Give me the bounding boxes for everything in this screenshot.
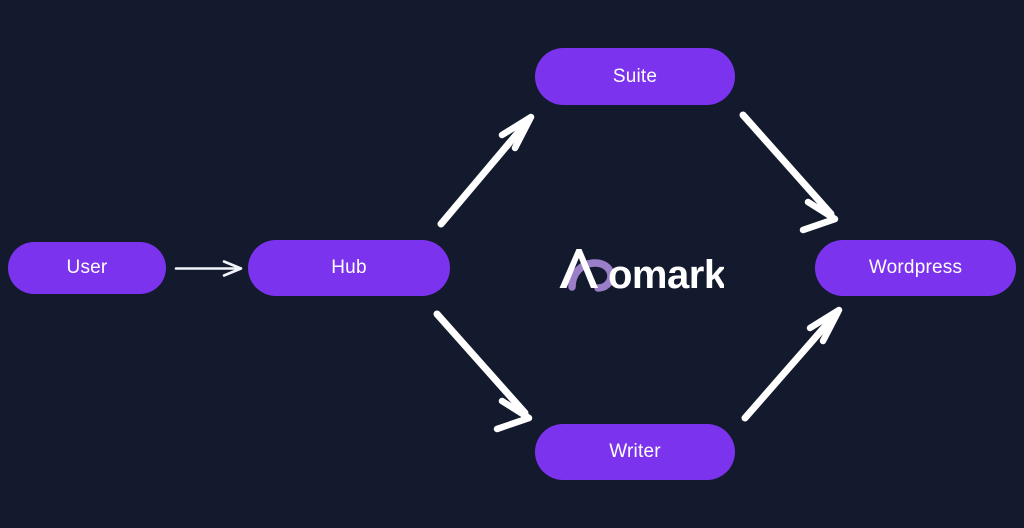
aomark-logo: omark	[556, 240, 724, 296]
edge-user-to-hub	[176, 262, 241, 276]
node-wordpress-label: Wordpress	[869, 258, 962, 277]
diagram-canvas: User Hub Suite Writer Wordpress omark	[0, 0, 1024, 528]
node-hub-label: Hub	[331, 258, 366, 277]
node-writer-label: Writer	[609, 442, 661, 461]
node-suite-label: Suite	[613, 67, 657, 86]
node-user-label: User	[67, 258, 108, 277]
node-wordpress[interactable]: Wordpress	[815, 240, 1016, 296]
node-suite[interactable]: Suite	[535, 48, 735, 105]
edge-hub-to-suite	[441, 117, 531, 224]
node-user[interactable]: User	[8, 242, 166, 294]
edge-suite-to-wordpress	[743, 115, 835, 230]
svg-text:omark: omark	[608, 253, 724, 292]
node-writer[interactable]: Writer	[535, 424, 735, 480]
aomark-logo-icon: omark	[556, 244, 724, 292]
node-hub[interactable]: Hub	[248, 240, 450, 296]
edge-hub-to-writer	[437, 314, 529, 429]
edge-writer-to-wordpress	[745, 310, 839, 418]
